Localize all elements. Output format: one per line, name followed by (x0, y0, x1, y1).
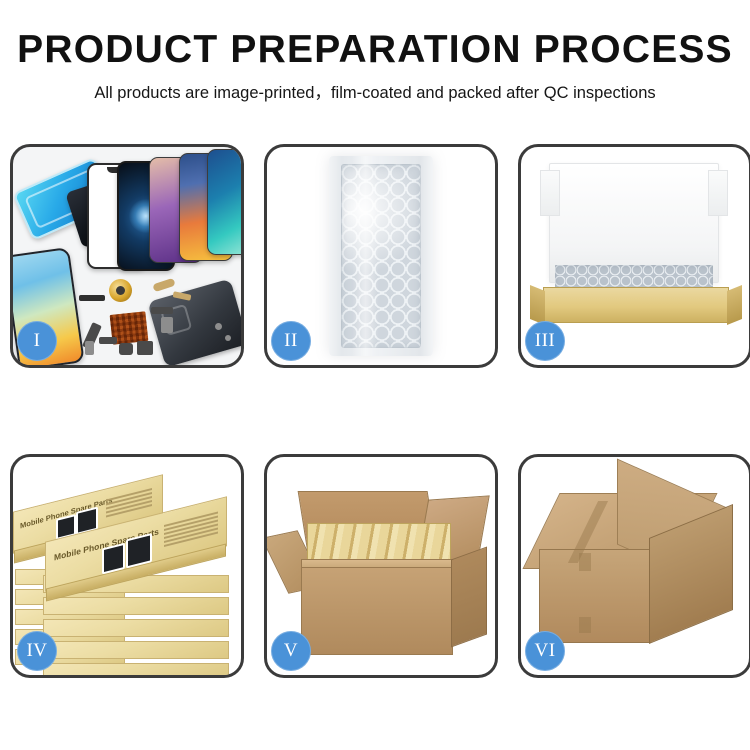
page-header: PRODUCT PREPARATION PROCESS All products… (0, 0, 750, 102)
step-badge-5: V (271, 631, 311, 671)
carton-tape-front-a (579, 553, 591, 571)
screw-part-b (225, 335, 231, 341)
process-step-2: II (264, 144, 498, 368)
bubble-wrap-sheet (329, 156, 433, 356)
vibration-motor-part (109, 279, 132, 302)
step-badge-2: II (271, 321, 311, 361)
antenna-part (151, 307, 173, 314)
step-badge-4: IV (17, 631, 57, 671)
carton-front-face (539, 549, 651, 643)
button-part (85, 341, 94, 355)
step-badge-1: I (17, 321, 57, 361)
stacked-box-r5 (43, 663, 229, 675)
phone-screen-teal (207, 149, 241, 255)
camera-part (119, 343, 133, 355)
sensor-part (161, 317, 173, 333)
page-subtitle: All products are image-printed，film-coat… (0, 85, 750, 102)
stacked-box-r2 (43, 597, 229, 615)
process-step-6: VI (518, 454, 750, 678)
process-step-grid: I II III (10, 144, 740, 678)
carton-side-open (451, 546, 487, 647)
module-part (137, 341, 153, 355)
carton-body-open (301, 567, 453, 655)
page-title: PRODUCT PREPARATION PROCESS (0, 30, 750, 69)
stacked-box-r3 (43, 619, 229, 637)
flex-cable-part (152, 278, 175, 292)
stacked-box-r4 (43, 641, 229, 659)
carton-tape-front-b (579, 617, 591, 633)
process-step-5: V (264, 454, 498, 678)
process-step-3: III (518, 144, 750, 368)
step-badge-6: VI (525, 631, 565, 671)
screw-part-a (215, 323, 222, 330)
speaker-part (79, 295, 105, 301)
bubble-wrap-highlight (352, 156, 379, 356)
kraft-box-tray (543, 287, 729, 323)
process-step-4: Mobile Phone Spare Parts Mobile Phone Sp… (10, 454, 244, 678)
product-preparation-page: PRODUCT PREPARATION PROCESS All products… (0, 0, 750, 750)
connector-part-b (99, 337, 117, 344)
process-step-1: I (10, 144, 244, 368)
step-badge-3: III (525, 321, 565, 361)
